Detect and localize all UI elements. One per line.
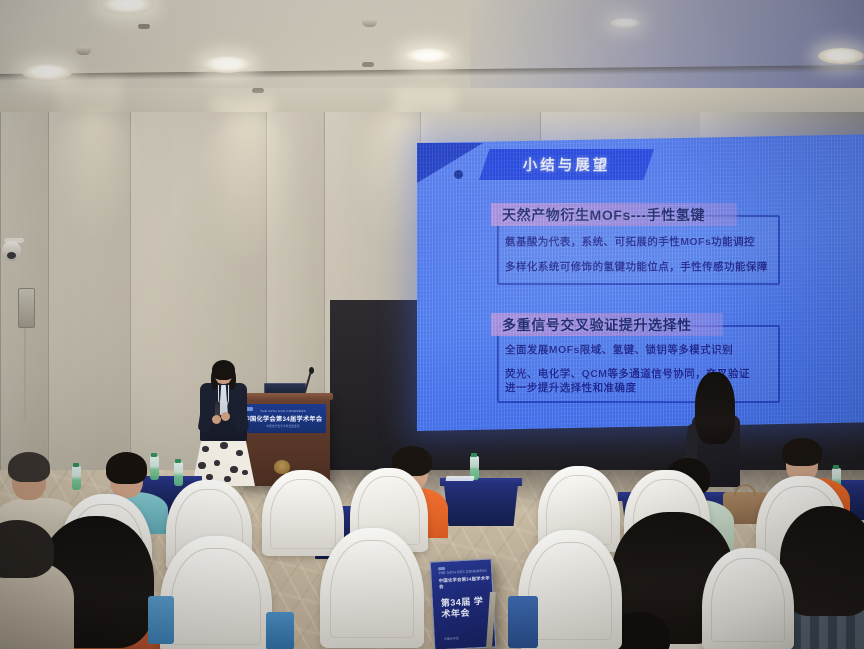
bottle-cap-icon [151,453,157,457]
projection-screen: 小结与展望 天然产物衍生MOFs---手性氢键 氨基酸为代表，系统、可拓展的手性… [417,134,864,431]
chair-cover [262,470,344,556]
podium-banner-cn: 中国化学会第34届学术年会 [244,414,323,423]
downlight-icon [818,48,864,64]
water-bottle [174,462,183,486]
slide-box-2-heading: 多重信号交叉验证提升选择性 [502,315,692,335]
podium-banner-en: THE 34TH CCS CONGRESS [260,409,306,413]
standing-attendee-hair [695,372,735,444]
bottle-cap-icon [175,459,181,463]
presenter-hair [212,360,235,380]
blue-tote-bag [148,596,174,644]
smoke-detector-icon [138,24,150,29]
bottle-cap-icon [471,453,477,457]
podium-banner: THE 34TH CCS CONGRESS 中国化学会第34届学术年会 中国化学… [240,404,326,433]
bottle-cap-icon [73,463,79,467]
slide-box-1-heading: 天然产物衍生MOFs---手性氢键 [502,205,705,225]
slide-title-ribbon: 小结与展望 [479,149,654,180]
attendee-hair [782,438,822,466]
skirt-pattern-dot [224,476,231,482]
podium-banner-sub: 中国化学会学术年会组委会 [266,424,300,428]
water-bottle [72,466,81,490]
podium-top-edge [233,393,333,400]
wall-light-wash [46,112,142,240]
smoke-detector-icon [362,62,374,67]
blue-tote-bag [508,596,538,648]
presenter-left-hand [212,415,221,424]
slide-box-2-heading-bg: 多重信号交叉验证提升选择性 [491,313,723,336]
downlight-icon [202,56,252,73]
slide-box-1-heading-bg: 天然产物衍生MOFs---手性氢键 [491,203,737,226]
ceiling-speaker-icon [76,46,91,55]
chair-cover [702,548,794,649]
water-bottle [150,456,159,480]
bottle-cap-icon [833,465,839,469]
chair-cover [320,528,424,648]
ceiling-speaker-icon [362,18,377,27]
wall-speaker-icon [18,288,35,328]
conference-hall-photo: 小结与展望 天然产物衍生MOFs---手性氢键 氨基酸为代表，系统、可拓展的手性… [0,0,864,649]
attendee-hair [106,452,147,484]
downlight-icon [610,18,640,28]
chair-cover [160,536,272,649]
downlight-icon [404,48,452,64]
presenter-right-hand [221,412,230,421]
ptz-camera-lens-icon [7,252,16,259]
slide-box-1-line-1: 氨基酸为代表，系统、可拓展的手性MOFs功能调控 [505,235,755,249]
blue-tote-bag [266,612,294,649]
slide-box-1-line-2: 多样化系统可修饰的氢键功能位点，手性传感功能保障 [505,260,768,274]
table-skirt [444,484,518,526]
attendee-hair [8,452,50,482]
speaker-stand-pole [24,328,26,422]
slide-box-2-line-1: 全面发展MOFs限域、氢键、锁钥等多模式识别 [505,343,733,357]
smoke-detector-icon [252,88,264,93]
slide-corner-decoration [417,143,483,183]
slide-title: 小结与展望 [523,154,611,175]
microphone-head-icon [309,367,314,374]
slide-corner-dot [454,170,463,179]
paper-handout [445,476,474,481]
wall-light-wash [196,112,300,262]
skirt-pattern-dot [242,470,248,475]
